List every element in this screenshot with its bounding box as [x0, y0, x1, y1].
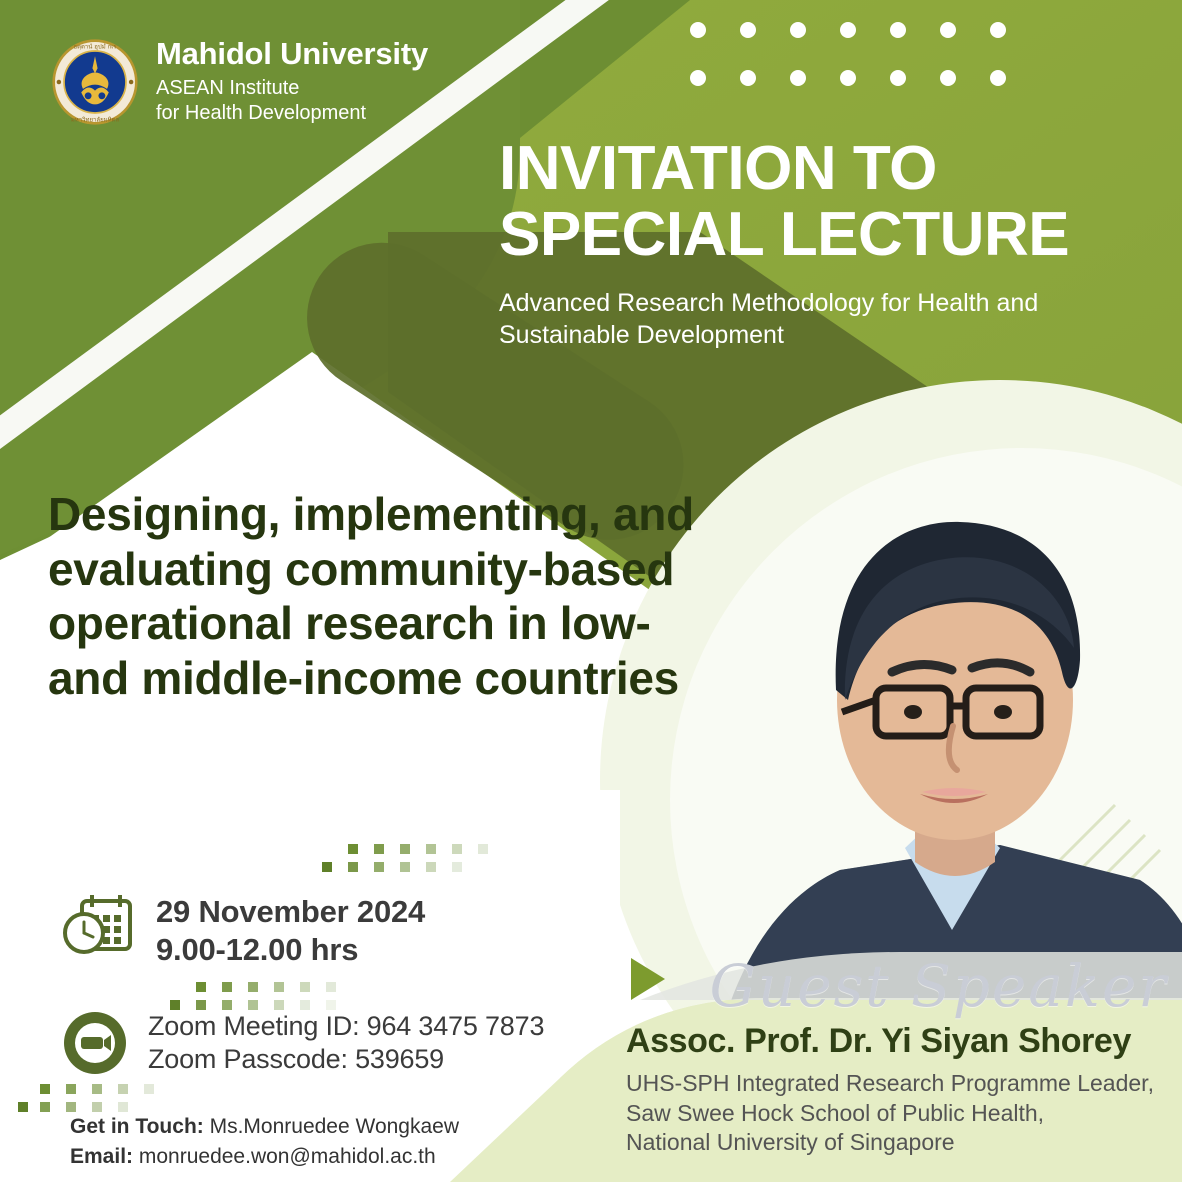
speaker-affiliation-line-2: Saw Swee Hock School of Public Health,	[626, 1099, 1172, 1128]
contact-person-value: Ms.Monruedee Wongkaew	[204, 1115, 459, 1138]
speaker-name: Assoc. Prof. Dr. Yi Siyan Shorey	[626, 1022, 1172, 1061]
video-camera-icon	[62, 1010, 128, 1076]
zoom-passcode[interactable]: Zoom Passcode: 539659	[148, 1043, 544, 1076]
decor-dot-grid-title	[322, 842, 522, 882]
invitation-subtitle-line-2: Sustainable Development	[499, 319, 1099, 352]
guest-speaker-script-label: Guest Speaker	[710, 952, 1168, 1020]
contact-person-label: Get in Touch:	[70, 1115, 204, 1138]
poster: อตฺตานํ อุปมํ กเร มหาวิทยาลัยมหิดล Mahid…	[0, 0, 1182, 1182]
event-date: 29 November 2024	[156, 893, 425, 931]
contact-email-value[interactable]: monruedee.won@mahidol.ac.th	[133, 1145, 436, 1168]
top-dot-pattern	[690, 22, 1030, 102]
lecture-title: Designing, implementing, and evaluating …	[48, 487, 738, 706]
invitation-title-line-1: INVITATION TO	[499, 136, 1179, 202]
invitation-subtitle-line-1: Advanced Research Methodology for Health…	[499, 287, 1099, 320]
date-info-row: 29 November 2024 9.00-12.00 hrs	[62, 893, 425, 969]
mahidol-university-seal-icon: อตฺตานํ อุปมํ กเร มหาวิทยาลัยมหิดล	[52, 39, 138, 125]
play-triangle-icon	[631, 958, 665, 1000]
speaker-affiliation-line-1: UHS-SPH Integrated Research Programme Le…	[626, 1069, 1172, 1098]
zoom-info-row: Zoom Meeting ID: 964 3475 7873 Zoom Pass…	[62, 1010, 544, 1076]
event-time: 9.00-12.00 hrs	[156, 931, 425, 969]
institute-line-2: for Health Development	[156, 101, 428, 126]
contact-email-label: Email:	[70, 1145, 133, 1168]
university-name: Mahidol University	[156, 38, 428, 71]
institute-line-1: ASEAN Institute	[156, 76, 428, 101]
contact-block: Get in Touch: Ms.Monruedee Wongkaew Emai…	[70, 1112, 459, 1172]
svg-text:อตฺตานํ อุปมํ กเร: อตฺตานํ อุปมํ กเร	[73, 43, 117, 50]
contact-person-row: Get in Touch: Ms.Monruedee Wongkaew	[70, 1112, 459, 1142]
invitation-title-line-2: SPECIAL LECTURE	[499, 202, 1179, 268]
speaker-affiliation-line-3: National University of Singapore	[626, 1128, 1172, 1157]
speaker-block: Assoc. Prof. Dr. Yi Siyan Shorey UHS-SPH…	[626, 1022, 1172, 1157]
contact-email-row: Email: monruedee.won@mahidol.ac.th	[70, 1142, 459, 1172]
zoom-meeting-id[interactable]: Zoom Meeting ID: 964 3475 7873	[148, 1010, 544, 1043]
calendar-clock-icon	[62, 893, 136, 959]
invitation-headline: INVITATION TO SPECIAL LECTURE Advanced R…	[499, 136, 1179, 352]
logo-block: อตฺตานํ อุปมํ กเร มหาวิทยาลัยมหิดล Mahid…	[52, 38, 428, 126]
svg-text:มหาวิทยาลัยมหิดล: มหาวิทยาลัยมหิดล	[71, 116, 120, 123]
